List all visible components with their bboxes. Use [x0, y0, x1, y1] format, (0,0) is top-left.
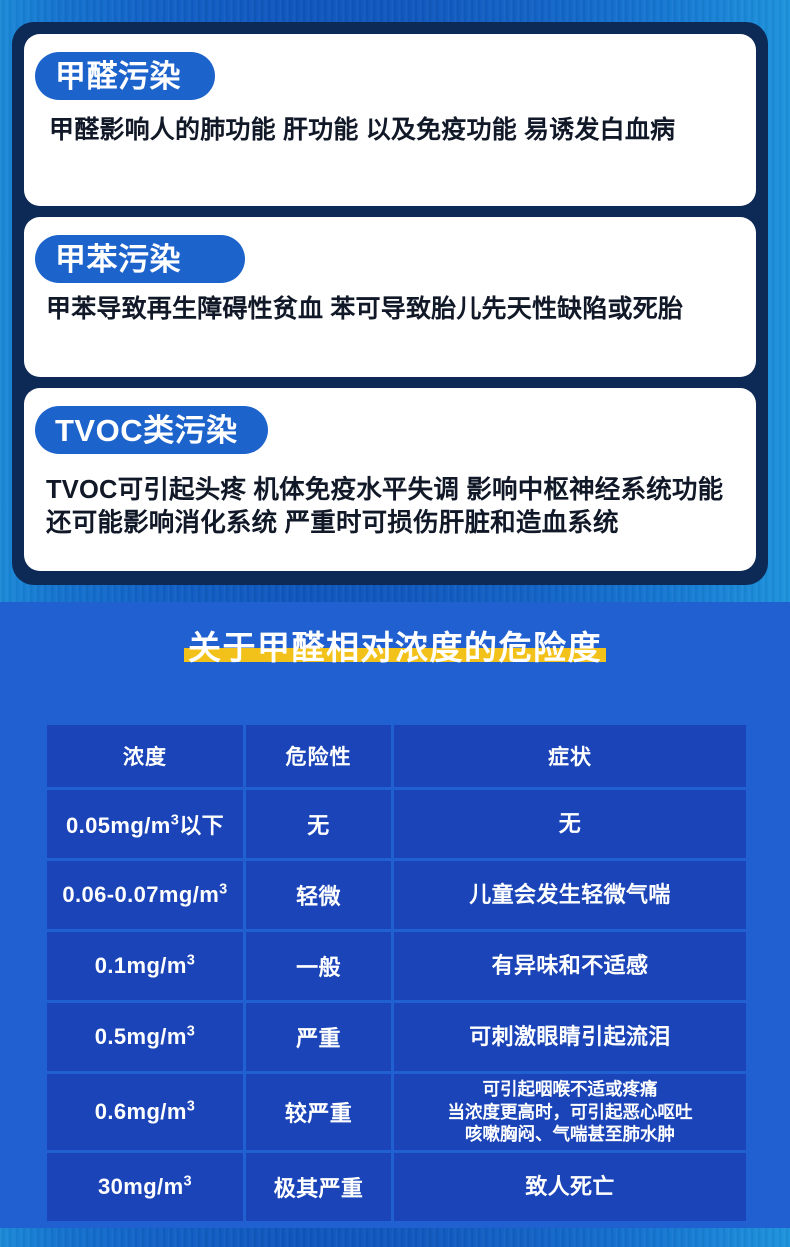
table-row: 0.05mg/m3以下 无 无 [47, 790, 746, 858]
symptom-lines: 有异味和不适感 [394, 953, 746, 980]
table-row: 0.5mg/m3 严重 可刺激眼睛引起流泪 [47, 1003, 746, 1071]
card-pill-label-1: 甲苯污染 [35, 235, 245, 283]
pollutant-card-formaldehyde: 甲醛污染 甲醛影响人的肺功能 肝功能 以及免疫功能 易诱发白血病 [24, 34, 756, 206]
table-header: 浓度 危险性 症状 [47, 725, 746, 787]
table-row: 30mg/m3 极其严重 致人死亡 [47, 1153, 746, 1221]
column-header-concentration: 浓度 [47, 725, 243, 787]
table-row: 0.1mg/m3 一般 有异味和不适感 [47, 932, 746, 1000]
symptom-line: 儿童会发生轻微气喘 [469, 882, 671, 907]
cell-risk: 无 [246, 790, 391, 858]
concentration-value: 0.6mg/m3 [95, 1099, 196, 1124]
cell-symptom: 有异味和不适感 [394, 932, 746, 1000]
concentration-value: 0.1mg/m3 [95, 953, 196, 978]
cell-symptom: 儿童会发生轻微气喘 [394, 861, 746, 929]
pollutant-cards-frame: 甲醛污染 甲醛影响人的肺功能 肝功能 以及免疫功能 易诱发白血病 甲苯污染 甲苯… [12, 22, 768, 585]
column-header-symptom: 症状 [394, 725, 746, 787]
cell-symptom: 可刺激眼睛引起流泪 [394, 1003, 746, 1071]
cell-concentration: 0.1mg/m3 [47, 932, 243, 1000]
cell-symptom: 可引起咽喉不适或疼痛 当浓度更高时，可引起恶心呕吐 咳嗽胸闷、气喘甚至肺水肿 [394, 1074, 746, 1150]
symptom-lines: 致人死亡 [394, 1174, 746, 1201]
card-body-1: 甲苯导致再生障碍性贫血 苯可导致胎儿先天性缺陷或死胎 [46, 293, 742, 326]
cell-concentration: 0.05mg/m3以下 [47, 790, 243, 858]
card-body-line: 甲苯导致再生障碍性贫血 苯可导致胎儿先天性缺陷或死胎 [46, 293, 742, 326]
cell-concentration: 0.06-0.07mg/m3 [47, 861, 243, 929]
concentration-value: 0.5mg/m3 [95, 1024, 196, 1049]
symptom-lines: 可引起咽喉不适或疼痛 当浓度更高时，可引起恶心呕吐 咳嗽胸闷、气喘甚至肺水肿 [394, 1078, 746, 1146]
page-title: 关于甲醛相对浓度的危险度 [188, 630, 602, 666]
table-title-inner: 关于甲醛相对浓度的危险度 [188, 630, 602, 666]
cell-concentration: 0.5mg/m3 [47, 1003, 243, 1071]
cell-concentration: 30mg/m3 [47, 1153, 243, 1221]
card-body-0: 甲醛影响人的肺功能 肝功能 以及免疫功能 易诱发白血病 [49, 114, 742, 147]
symptom-line: 当浓度更高时，可引起恶心呕吐 [394, 1101, 746, 1124]
concentration-value: 30mg/m3 [98, 1174, 192, 1199]
symptom-lines: 无 [394, 811, 746, 838]
table-body: 0.05mg/m3以下 无 无 0.06-0.07mg/m3 轻微 儿童会发生轻… [47, 790, 746, 1221]
poster-page: 甲醛污染 甲醛影响人的肺功能 肝功能 以及免疫功能 易诱发白血病 甲苯污染 甲苯… [0, 0, 790, 1247]
symptom-lines: 儿童会发生轻微气喘 [394, 882, 746, 909]
risk-table: 浓度 危险性 症状 0.05mg/m3以下 无 无 0.06-0.07m [44, 722, 749, 1224]
cell-risk: 较严重 [246, 1074, 391, 1150]
symptom-line: 无 [559, 811, 581, 836]
column-header-risk: 危险性 [246, 725, 391, 787]
card-body-line: TVOC可引起头疼 机体免疫水平失调 影响中枢神经系统功能 [46, 474, 742, 507]
cell-symptom: 无 [394, 790, 746, 858]
cell-risk: 极其严重 [246, 1153, 391, 1221]
cell-risk: 一般 [246, 932, 391, 1000]
cell-concentration: 0.6mg/m3 [47, 1074, 243, 1150]
table-title-area: 关于甲醛相对浓度的危险度 [0, 602, 790, 694]
concentration-value: 0.06-0.07mg/m3 [62, 882, 227, 907]
card-body-line: 还可能影响消化系统 严重时可损伤肝脏和造血系统 [46, 507, 742, 540]
symptom-line: 可刺激眼睛引起流泪 [469, 1024, 671, 1049]
symptom-line: 有异味和不适感 [492, 953, 649, 978]
card-pill-label-0: 甲醛污染 [35, 52, 215, 100]
cell-risk: 严重 [246, 1003, 391, 1071]
cell-risk: 轻微 [246, 861, 391, 929]
table-header-row: 浓度 危险性 症状 [47, 725, 746, 787]
pollutant-card-toluene: 甲苯污染 甲苯导致再生障碍性贫血 苯可导致胎儿先天性缺陷或死胎 [24, 217, 756, 377]
card-pill-label-2: TVOC类污染 [35, 406, 268, 454]
concentration-value: 0.05mg/m3以下 [66, 813, 224, 838]
table-row: 0.06-0.07mg/m3 轻微 儿童会发生轻微气喘 [47, 861, 746, 929]
table-row: 0.6mg/m3 较严重 可引起咽喉不适或疼痛 当浓度更高时，可引起恶心呕吐 咳… [47, 1074, 746, 1150]
card-body-2: TVOC可引起头疼 机体免疫水平失调 影响中枢神经系统功能 还可能影响消化系统 … [46, 474, 742, 540]
pollutant-card-tvoc: TVOC类污染 TVOC可引起头疼 机体免疫水平失调 影响中枢神经系统功能 还可… [24, 388, 756, 571]
symptom-line: 咳嗽胸闷、气喘甚至肺水肿 [394, 1123, 746, 1146]
cell-symptom: 致人死亡 [394, 1153, 746, 1221]
symptom-line: 可引起咽喉不适或疼痛 [394, 1078, 746, 1101]
risk-table-panel: 关于甲醛相对浓度的危险度 浓度 危险性 症状 0.05mg/m3以下 无 [0, 602, 790, 1228]
symptom-lines: 可刺激眼睛引起流泪 [394, 1024, 746, 1051]
symptom-line: 致人死亡 [525, 1174, 615, 1199]
card-body-line: 甲醛影响人的肺功能 肝功能 以及免疫功能 易诱发白血病 [49, 114, 742, 147]
